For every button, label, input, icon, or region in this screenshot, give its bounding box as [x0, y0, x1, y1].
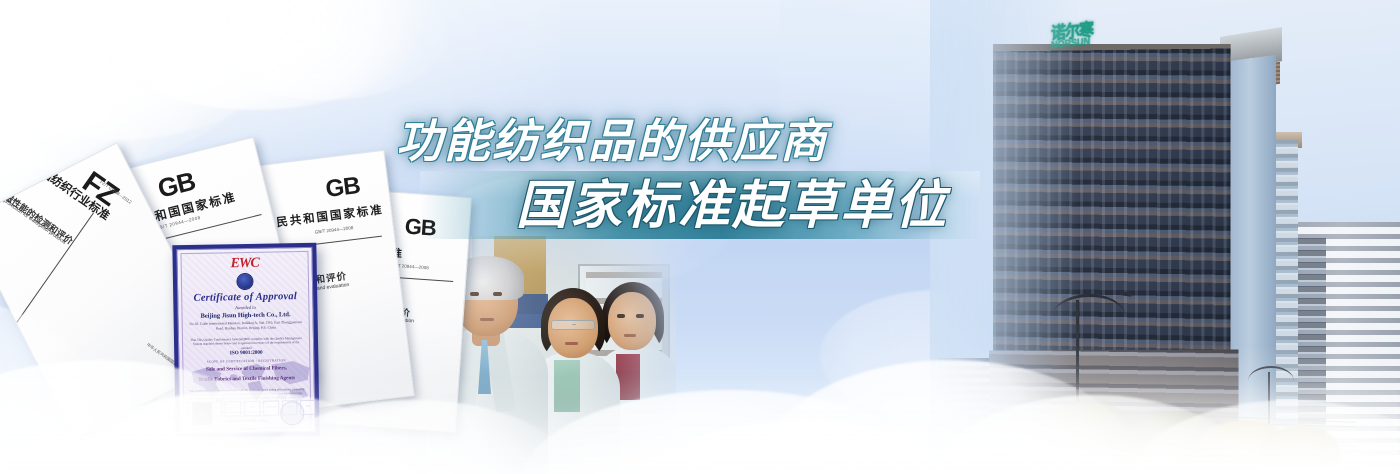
headline-group: 功能纺织品的供应商 国家标准起草单位	[0, 0, 1400, 474]
headline-line-1: 功能纺织品的供应商	[396, 118, 828, 164]
headline-line-2: 国家标准起草单位	[516, 180, 948, 232]
hero-banner: 诺尔寒 NORSUN	[0, 0, 1400, 474]
